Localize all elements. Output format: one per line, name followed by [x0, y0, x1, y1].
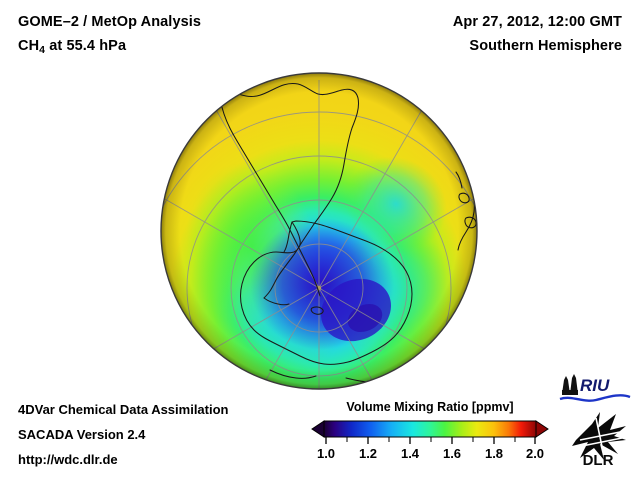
colorbar-minor-ticks [347, 437, 515, 442]
data-center-url[interactable]: http://wdc.dlr.de [18, 452, 118, 467]
figure-canvas: GOME–2 / MetOp Analysis CH4 at 55.4 hPa … [0, 0, 640, 480]
pressure-level: at 55.4 hPa [45, 38, 126, 54]
polar-map [160, 72, 478, 390]
colorbar-scale [310, 419, 550, 445]
datetime-label: Apr 27, 2012, 12:00 GMT [453, 14, 622, 30]
version-label: SACADA Version 2.4 [18, 427, 145, 442]
riu-wave-icon [560, 395, 630, 400]
colorbar-tick-labels: 1.0 1.2 1.4 1.6 1.8 2.0 [310, 446, 550, 464]
colorbar: Volume Mixing Ratio [ppmv] [310, 400, 550, 464]
colorbar-tick-label: 1.6 [443, 446, 461, 461]
colorbar-tick-label: 2.0 [526, 446, 544, 461]
hemisphere-label: Southern Hemisphere [469, 38, 622, 54]
colorbar-extend-min [312, 421, 324, 437]
species-prefix: CH [18, 38, 39, 54]
riu-wordmark: RIU [580, 376, 610, 395]
dlr-logo: DLR [570, 410, 630, 468]
colorbar-tick-label: 1.0 [317, 446, 335, 461]
colorbar-tick-label: 1.4 [401, 446, 419, 461]
colorbar-title: Volume Mixing Ratio [ppmv] [310, 400, 550, 414]
colorbar-gradient [324, 421, 536, 437]
limb-shading [161, 73, 477, 389]
colorbar-extend-max [536, 421, 548, 437]
riu-logo: RIU [558, 372, 632, 404]
dlr-wordmark: DLR [583, 452, 614, 468]
colorbar-tick-label: 1.2 [359, 446, 377, 461]
instrument-title: GOME–2 / MetOp Analysis [18, 14, 201, 30]
species-pressure-label: CH4 at 55.4 hPa [18, 38, 126, 56]
colorbar-tick-label: 1.8 [485, 446, 503, 461]
method-label: 4DVar Chemical Data Assimilation [18, 402, 229, 417]
cathedral-spires-icon [562, 374, 578, 395]
